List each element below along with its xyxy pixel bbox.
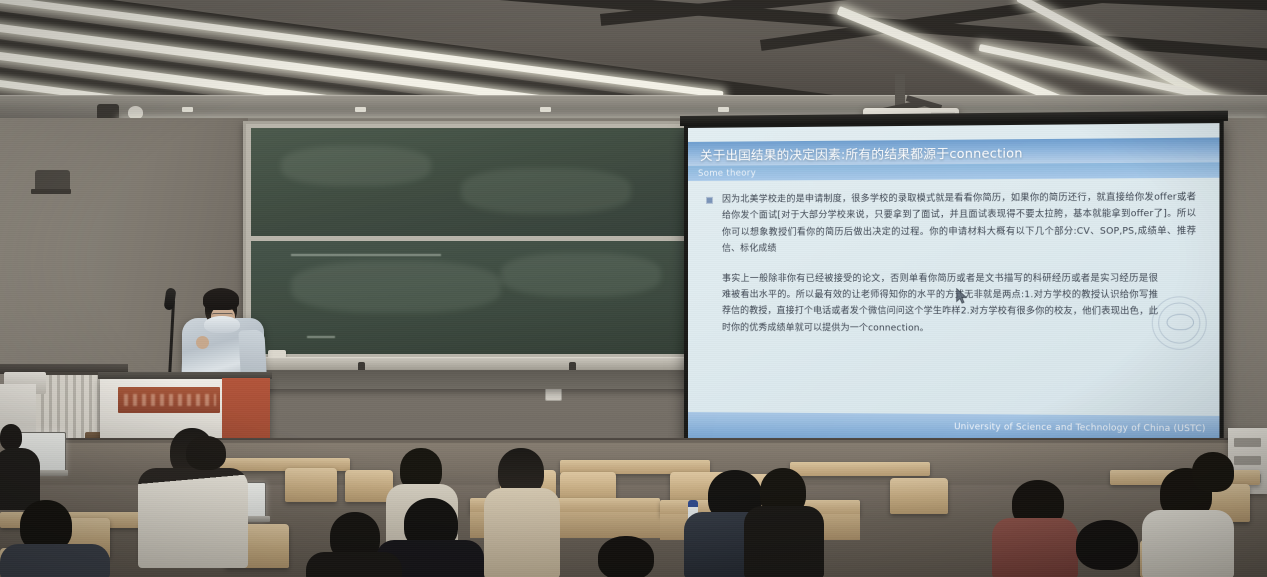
bullet-square-icon: [706, 197, 713, 204]
lectern-nameplate: [118, 387, 220, 413]
slide-paragraph-2: 事实上一般除非你有已经被接受的论文，否则单看你简历或者是文书描写的科研经历或者是…: [706, 270, 1203, 338]
audience-body-7: [0, 544, 110, 577]
slide-bullet-item: 因为北美学校走的是申请制度，很多学校的录取模式就是看看你简历，如果你的简历还行，…: [706, 189, 1203, 257]
seat-1: [285, 468, 337, 502]
lecture-hall-photo: 关于出国结果的决定因素:所有的结果都源于connection Some theo…: [0, 0, 1267, 577]
ustc-seal-logo-icon: [1152, 296, 1207, 350]
slide-footer-text: University of Science and Technology of …: [954, 422, 1219, 434]
ceiling-dome-icon: [128, 106, 143, 118]
audience-head-15: [1192, 452, 1234, 492]
slide-body: 因为北美学校走的是申请制度，很多学校的录取模式就是看看你简历，如果你的简历还行，…: [688, 181, 1219, 414]
blackboard-lower-panel: [251, 241, 685, 354]
audience-head-1: [0, 424, 22, 450]
audience-body-12: [992, 518, 1078, 577]
audience-head-11: [598, 536, 654, 577]
wall-mount-fixture-icon: [35, 170, 70, 192]
slide-title-bar: 关于出国结果的决定因素:所有的结果都源于connection: [688, 138, 1219, 166]
audience-body-14: [1142, 510, 1234, 577]
slide-subtitle-bar: Some theory: [688, 162, 1219, 181]
slide-title: 关于出国结果的决定因素:所有的结果都源于connection: [688, 142, 1023, 164]
seat-7: [890, 478, 948, 514]
audience-body-6: [306, 552, 402, 577]
presentation-slide: 关于出国结果的决定因素:所有的结果都源于connection Some theo…: [688, 123, 1219, 443]
ceiling-camera-icon: [97, 104, 119, 118]
chalk-tray: [246, 357, 694, 371]
slide-subtitle: Some theory: [688, 168, 756, 178]
speaker-hand: [196, 336, 209, 349]
audience-body-3: [484, 488, 560, 577]
audience-body-2: [138, 468, 248, 568]
audience-body-1: [0, 448, 40, 510]
desk-back-right: [790, 462, 930, 476]
ceiling: [0, 0, 1267, 118]
lectern-nameplate-text: [124, 394, 216, 406]
audience-head-8: [186, 436, 226, 470]
audience-body-10: [744, 506, 824, 577]
speaker-hood: [204, 316, 240, 333]
blackboard: [243, 121, 697, 389]
speaker-hair: [203, 288, 239, 310]
audience-head-13: [1076, 520, 1138, 570]
projection-screen: 关于出国结果的决定因素:所有的结果都源于connection Some theo…: [684, 121, 1224, 450]
blackboard-upper-panel: [251, 128, 685, 236]
slide-paragraph-1: 因为北美学校走的是申请制度，很多学校的录取模式就是看看你简历，如果你的简历还行，…: [722, 189, 1202, 257]
blackboard-lower-rail: [246, 370, 694, 389]
